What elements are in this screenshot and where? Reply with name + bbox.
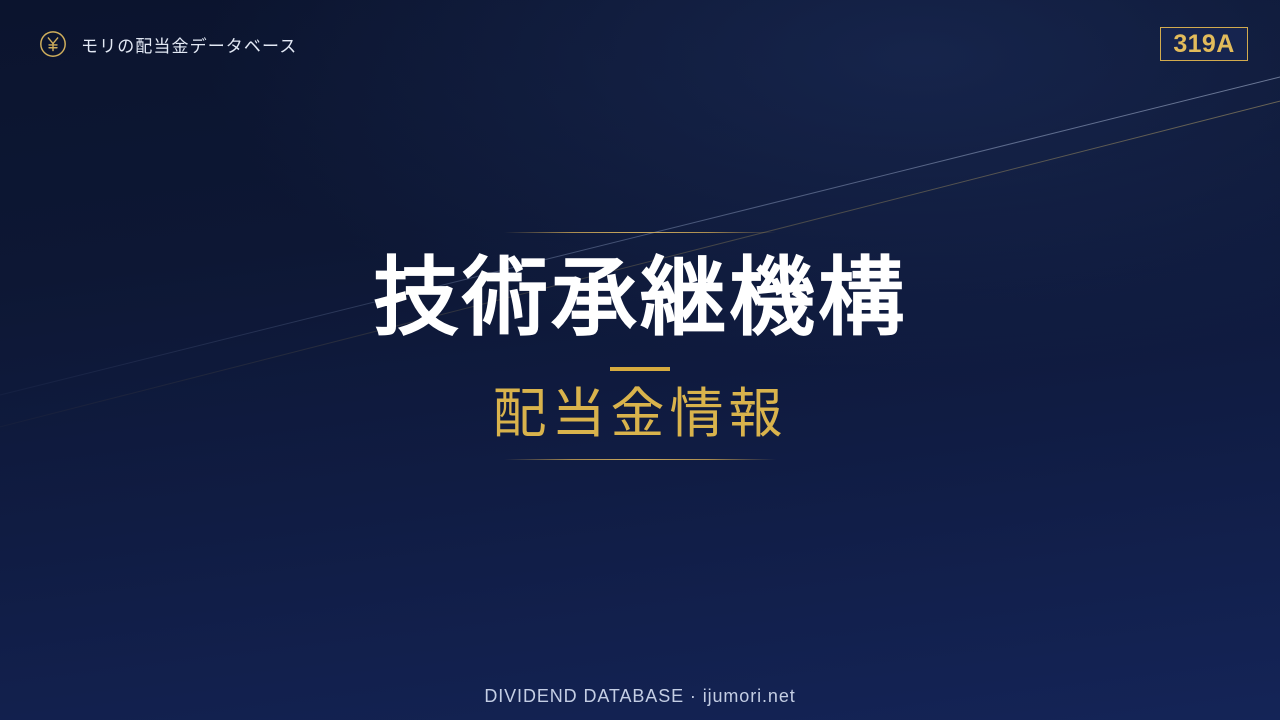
gold-divider-bar: [610, 367, 670, 371]
footer-credit: DIVIDEND DATABASE · ijumori.net: [0, 686, 1280, 707]
page-subtitle: 配当金情報: [493, 385, 788, 444]
title-rule-bottom: [504, 459, 776, 460]
slide-header: モリの配当金データベース 319A: [0, 0, 1280, 88]
title-slide: モリの配当金データベース 319A 技術承継機構 配当金情報 DIVIDEND …: [0, 0, 1280, 720]
title-block: 技術承継機構 配当金情報: [0, 232, 1280, 460]
yen-circle-icon: [38, 29, 68, 59]
stock-code-badge: 319A: [1160, 27, 1248, 61]
page-title: 技術承継機構: [373, 250, 907, 346]
title-rule-top: [504, 232, 776, 233]
brand: モリの配当金データベース: [38, 29, 297, 59]
brand-name: モリの配当金データベース: [81, 32, 297, 57]
